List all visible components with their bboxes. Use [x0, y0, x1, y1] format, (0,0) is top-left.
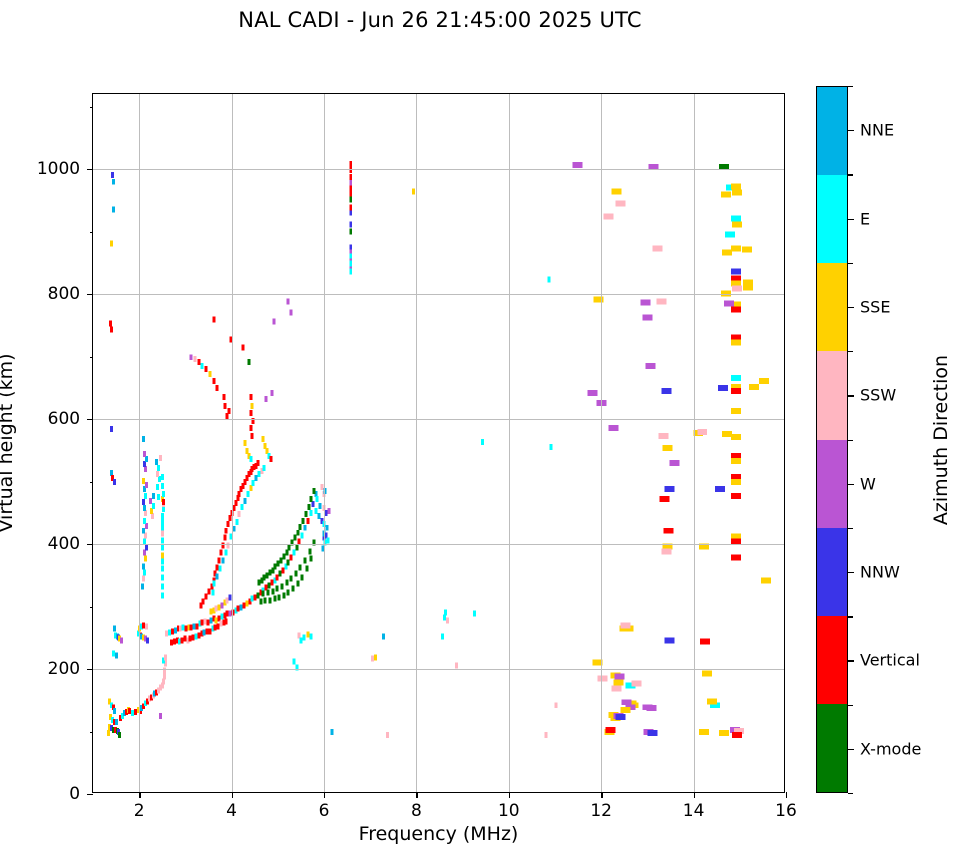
gridline-horizontal — [93, 169, 784, 170]
x-axis-label: Frequency (MHz) — [92, 823, 785, 845]
x-tick — [601, 792, 602, 798]
colorbar-edge-tick — [848, 528, 853, 529]
colorbar-tick — [848, 484, 854, 485]
colorbar-segment-nne — [817, 87, 847, 175]
colorbar-label-nne: NNE — [860, 121, 894, 140]
colorbar-edge-tick — [848, 86, 853, 87]
y-tick-minor — [90, 482, 94, 483]
x-tick — [786, 792, 787, 798]
y-tick-label: 0 — [69, 784, 80, 804]
colorbar — [816, 86, 848, 793]
y-tick-minor — [90, 232, 94, 233]
y-tick-label: 600 — [48, 409, 80, 429]
colorbar-tick — [848, 660, 854, 661]
ionogram-figure: NAL CADI - Jun 26 21:45:00 2025 UTC 0200… — [0, 0, 958, 857]
colorbar-edge-tick — [848, 793, 853, 794]
gridline-vertical — [416, 94, 417, 792]
colorbar-label-sse: SSE — [860, 297, 890, 316]
colorbar-label-vertical: Vertical — [860, 651, 920, 670]
ionogram-scatter-canvas — [93, 94, 784, 792]
y-tick-minor — [90, 107, 94, 108]
y-tick — [87, 794, 93, 795]
y-tick — [87, 669, 93, 670]
y-tick-minor — [90, 732, 94, 733]
colorbar-label-nnw: NNW — [860, 563, 900, 582]
gridline-horizontal — [93, 419, 784, 420]
gridline-horizontal — [93, 294, 784, 295]
x-tick-label: 16 — [775, 801, 797, 821]
y-tick — [87, 294, 93, 295]
colorbar-tick — [848, 572, 854, 573]
colorbar-segment-w — [817, 440, 847, 528]
x-tick — [509, 792, 510, 798]
colorbar-segment-ssw — [817, 351, 847, 439]
gridline-vertical — [232, 94, 233, 792]
y-tick-label: 1000 — [37, 159, 80, 179]
page-title: NAL CADI - Jun 26 21:45:00 2025 UTC — [0, 8, 880, 32]
gridline-vertical — [694, 94, 695, 792]
gridline-horizontal — [93, 544, 784, 545]
y-tick-label: 800 — [48, 284, 80, 304]
x-tick-label: 10 — [498, 801, 520, 821]
colorbar-edge-tick — [848, 705, 853, 706]
x-tick — [139, 792, 140, 798]
colorbar-edge-tick — [848, 351, 853, 352]
gridline-horizontal — [93, 669, 784, 670]
colorbar-edge-tick — [848, 263, 853, 264]
colorbar-tick — [848, 307, 854, 308]
colorbar-segment-sse — [817, 263, 847, 351]
x-tick — [232, 792, 233, 798]
y-tick-label: 400 — [48, 534, 80, 554]
gridline-vertical — [509, 94, 510, 792]
colorbar-edge-tick — [848, 440, 853, 441]
colorbar-tick — [848, 219, 854, 220]
y-tick-minor — [90, 357, 94, 358]
x-tick — [416, 792, 417, 798]
colorbar-tick — [848, 395, 854, 396]
colorbar-label-w: W — [860, 474, 876, 493]
y-axis-label: Virtual height (km) — [0, 353, 17, 532]
gridline-vertical — [324, 94, 325, 792]
x-tick-label: 8 — [411, 801, 422, 821]
y-tick-label: 200 — [48, 659, 80, 679]
colorbar-tick — [848, 130, 854, 131]
colorbar-label-x-mode: X-mode — [860, 739, 921, 758]
colorbar-edge-tick — [848, 174, 853, 175]
colorbar-tick — [848, 749, 854, 750]
colorbar-label: Azimuth Direction — [930, 355, 952, 525]
x-tick-label: 6 — [319, 801, 330, 821]
y-tick-minor — [90, 607, 94, 608]
x-tick — [694, 792, 695, 798]
x-tick-label: 2 — [134, 801, 145, 821]
x-tick-label: 12 — [590, 801, 612, 821]
y-tick — [87, 419, 93, 420]
y-tick — [87, 169, 93, 170]
colorbar-segment-vertical — [817, 616, 847, 704]
colorbar-segment-x-mode — [817, 704, 847, 792]
gridline-vertical — [601, 94, 602, 792]
colorbar-segment-e — [817, 175, 847, 263]
y-tick — [87, 544, 93, 545]
colorbar-label-ssw: SSW — [860, 386, 896, 405]
gridline-vertical — [139, 94, 140, 792]
plot-area: 02004006008001000246810121416 — [92, 93, 785, 793]
x-tick-label: 14 — [683, 801, 705, 821]
colorbar-edge-tick — [848, 616, 853, 617]
colorbar-segment-nnw — [817, 528, 847, 616]
x-tick — [324, 792, 325, 798]
colorbar-label-e: E — [860, 209, 870, 228]
ionogram-canvas-holder — [93, 94, 784, 792]
x-tick-label: 4 — [226, 801, 237, 821]
